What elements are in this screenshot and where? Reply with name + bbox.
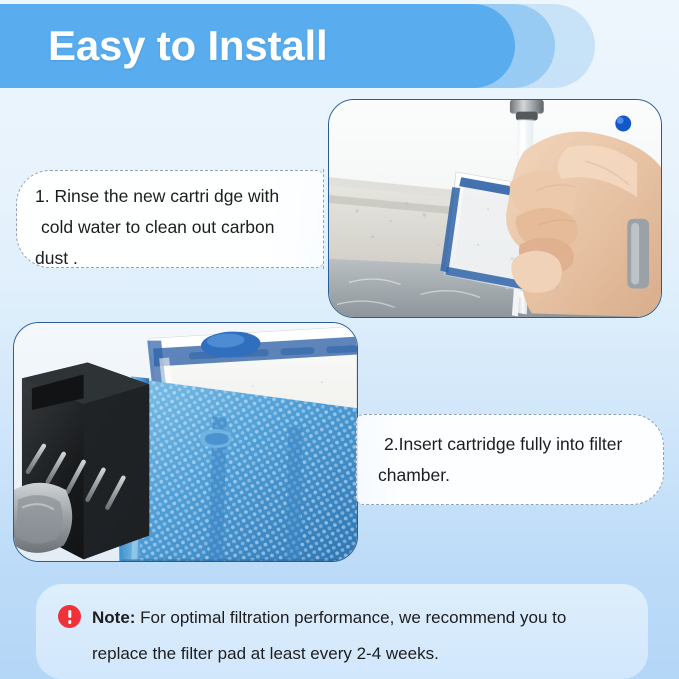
step-1-text-box: 1. Rinse the new cartri dge with cold wa… (16, 170, 324, 268)
exclamation-circle-icon (58, 605, 81, 628)
note-label: Note: (92, 608, 135, 627)
note-line-2: replace the filter pad at least every 2-… (92, 636, 566, 672)
photo-rinse-cartridge-graphic (329, 100, 661, 317)
note-text: Note: For optimal filtration performance… (92, 600, 566, 672)
step-2-line-1: 2.Insert cartridge fully into filter (378, 429, 649, 460)
step-1-line-2: cold water to clean out carbon (35, 212, 310, 243)
step-2-line-2: chamber. (378, 460, 649, 491)
photo-insert-cartridge (13, 322, 358, 562)
step-2-text-box: 2.Insert cartridge fully into filter cha… (356, 414, 664, 505)
step-1-line-3: dust . (35, 243, 310, 274)
photo-rinse-cartridge (328, 99, 662, 318)
photo-insert-cartridge-graphic (14, 323, 357, 561)
note-line-1: For optimal filtration performance, we r… (135, 608, 566, 627)
note-row: Note: For optimal filtration performance… (58, 600, 626, 672)
note-bar: Note: For optimal filtration performance… (36, 584, 648, 679)
header-banner: Easy to Install (0, 0, 679, 92)
step-1-line-1: 1. Rinse the new cartri dge with (35, 181, 310, 212)
page-title: Easy to Install (48, 14, 327, 78)
